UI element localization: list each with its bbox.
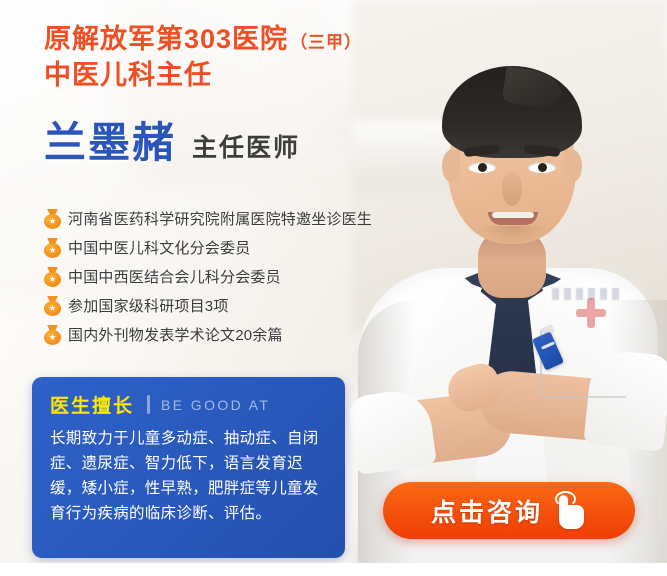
hand-click-icon — [553, 491, 587, 531]
doctor-ear-right — [564, 150, 582, 182]
list-item: 参加国家级科研项目3项 — [44, 292, 374, 319]
red-cross-icon — [576, 298, 606, 328]
list-item: 国内外刊物发表学术论文20余篇 — [44, 321, 374, 348]
doctor-promo-banner: 原解放军第303医院 （三甲） 中医儿科主任 兰墨赭 主任医师 河南省医药科学研… — [0, 0, 667, 576]
doctor-pupil-right — [538, 163, 547, 172]
doctor-name-row: 兰墨赭 主任医师 — [44, 122, 300, 164]
title-divider — [147, 395, 150, 414]
hospital-grade: （三甲） — [290, 32, 362, 54]
credentials-list: 河南省医药科学研究院附属医院特邀坐诊医生 中国中医儿科文化分会委员 中国中西医结… — [44, 205, 374, 350]
doctor-pupil-left — [478, 163, 487, 172]
credential-text: 国内外刊物发表学术论文20余篇 — [68, 324, 283, 345]
doctor-name: 兰墨赭 — [44, 122, 176, 164]
credential-text: 河南省医药科学研究院附属医院特邀坐诊医生 — [68, 208, 372, 229]
doctor-title: 主任医师 — [192, 136, 300, 164]
specialty-panel-header: 医生擅长 BE GOOD AT — [32, 377, 345, 418]
list-item: 河南省医药科学研究院附属医院特邀坐诊医生 — [44, 205, 374, 232]
medal-icon — [44, 238, 61, 258]
specialty-title-cn: 医生擅长 — [50, 391, 134, 418]
specialty-title-en: BE GOOD AT — [161, 397, 270, 413]
list-item: 中国中医儿科文化分会委员 — [44, 234, 374, 261]
consult-button[interactable]: 点击咨询 — [383, 482, 635, 539]
hospital-name: 原解放军第303医院 — [44, 22, 288, 58]
doctor-chin-shadow — [480, 226, 546, 242]
credential-text: 中国中西医结合会儿科分会委员 — [68, 266, 281, 287]
headline-line-2: 中医儿科主任 — [44, 58, 444, 94]
headline-line-1: 原解放军第303医院 （三甲） — [44, 22, 444, 58]
medal-icon — [44, 209, 61, 229]
medal-icon — [44, 267, 61, 287]
list-item: 中国中西医结合会儿科分会委员 — [44, 263, 374, 290]
footer-strip — [0, 563, 667, 576]
specialty-panel: 医生擅长 BE GOOD AT 长期致力于儿童多动症、抽动症、自闭症、遗尿症、智… — [32, 377, 345, 558]
credential-text: 中国中医儿科文化分会委员 — [68, 237, 250, 258]
medal-icon — [44, 325, 61, 345]
consult-button-label: 点击咨询 — [431, 493, 543, 529]
doctor-ear-left — [442, 150, 460, 182]
doctor-nose — [502, 172, 522, 206]
medal-icon — [44, 296, 61, 316]
credential-text: 参加国家级科研项目3项 — [68, 295, 229, 316]
specialty-description: 长期致力于儿童多动症、抽动症、自闭症、遗尿症、智力低下，语言发育迟缓，矮小症，性… — [32, 418, 345, 526]
headline-block: 原解放军第303医院 （三甲） 中医儿科主任 — [44, 22, 444, 93]
doctor-teeth — [492, 212, 534, 218]
